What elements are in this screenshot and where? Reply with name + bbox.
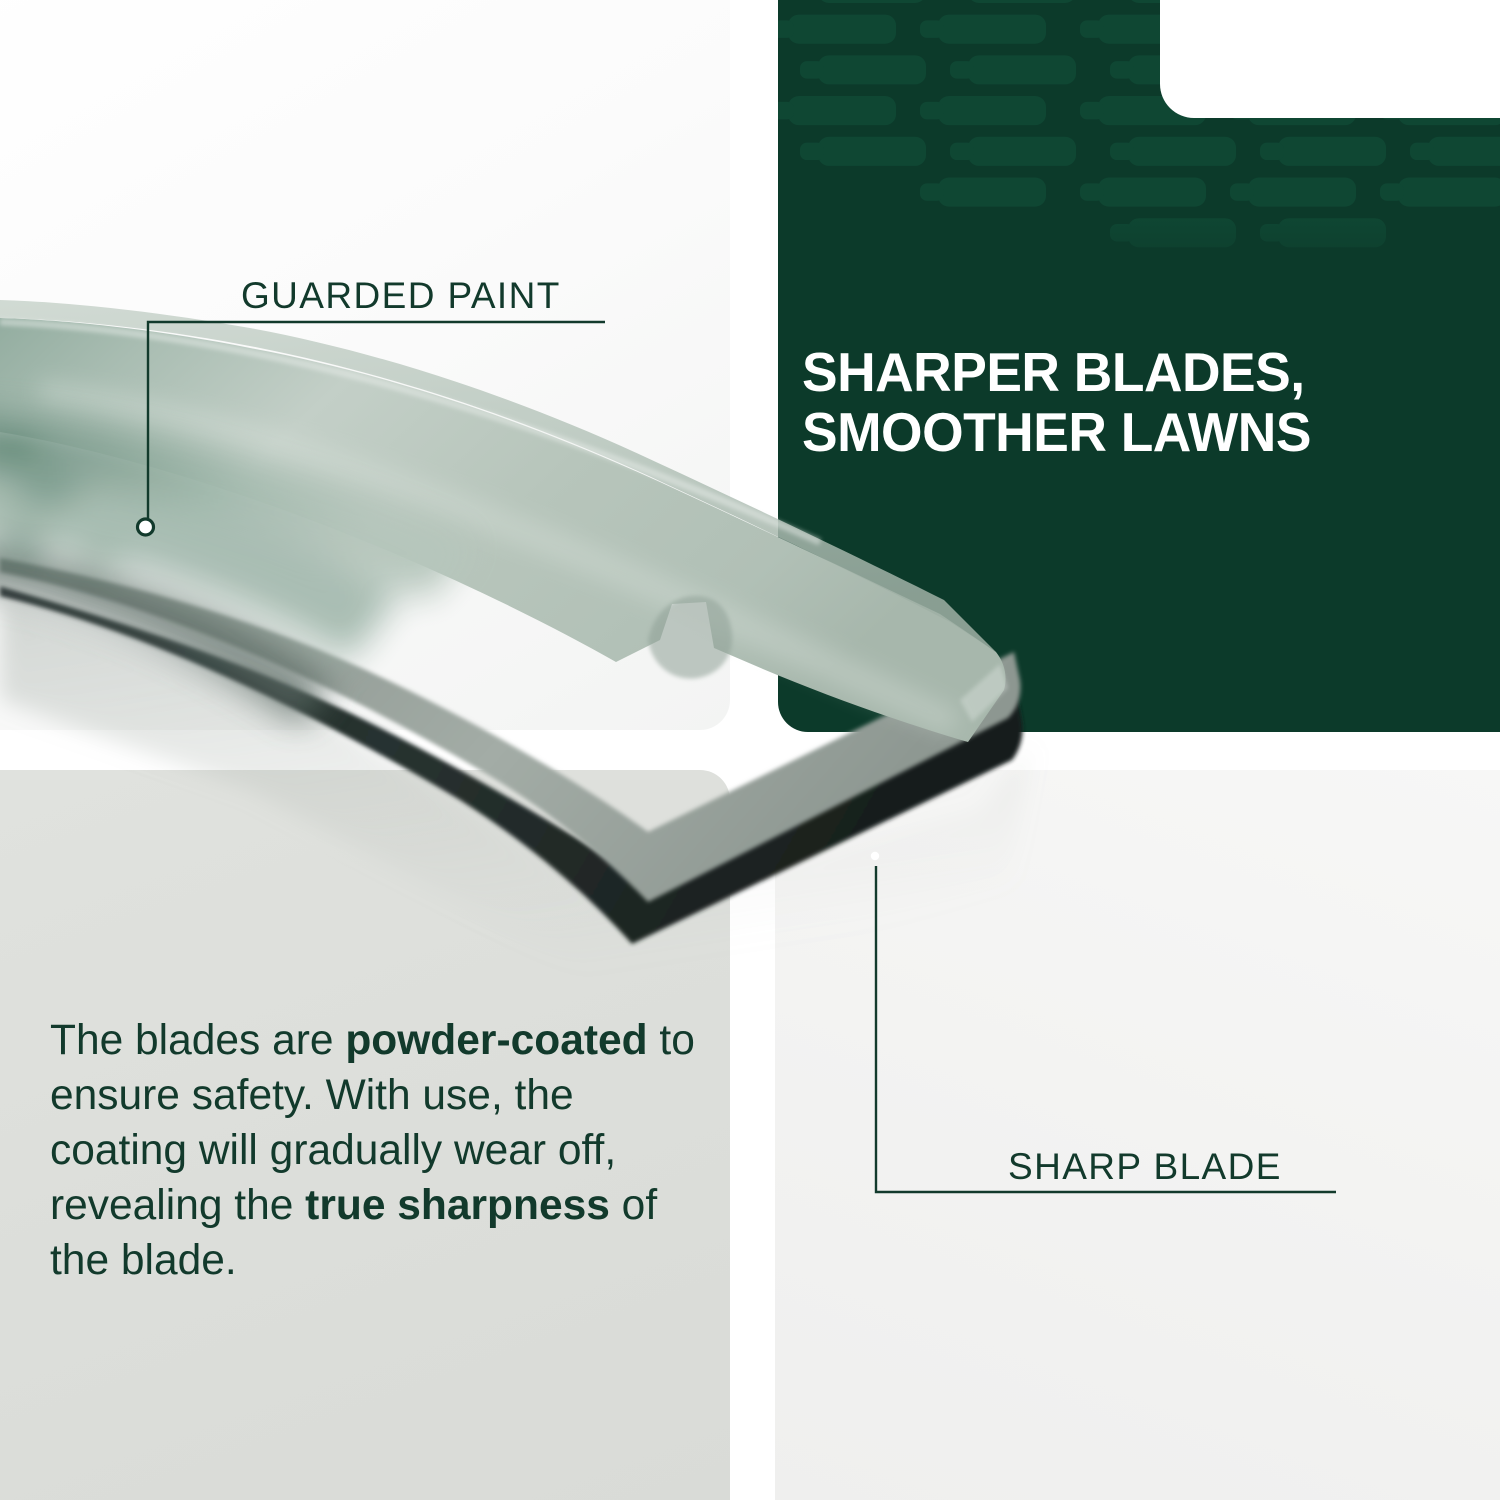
body-copy-emphasis: true sharpness xyxy=(305,1182,610,1229)
body-copy-text: The blades are xyxy=(50,1017,345,1064)
body-copy-emphasis: powder-coated xyxy=(345,1017,647,1064)
callout-label-sharp-blade: SHARP BLADE xyxy=(1008,1146,1282,1188)
brand-logo-plate: UDC PARTS ® xyxy=(1160,0,1500,118)
marketing-image: GUARDED PAINT SHARP BLADE SHARPER BLADES… xyxy=(0,0,1500,1500)
panel-headline: SHARPER BLADES, SMOOTHER LAWNS xyxy=(802,342,1481,462)
body-copy: The blades are powder-coated to ensure s… xyxy=(50,1013,700,1288)
callout-label-guarded-paint: GUARDED PAINT xyxy=(241,275,561,317)
